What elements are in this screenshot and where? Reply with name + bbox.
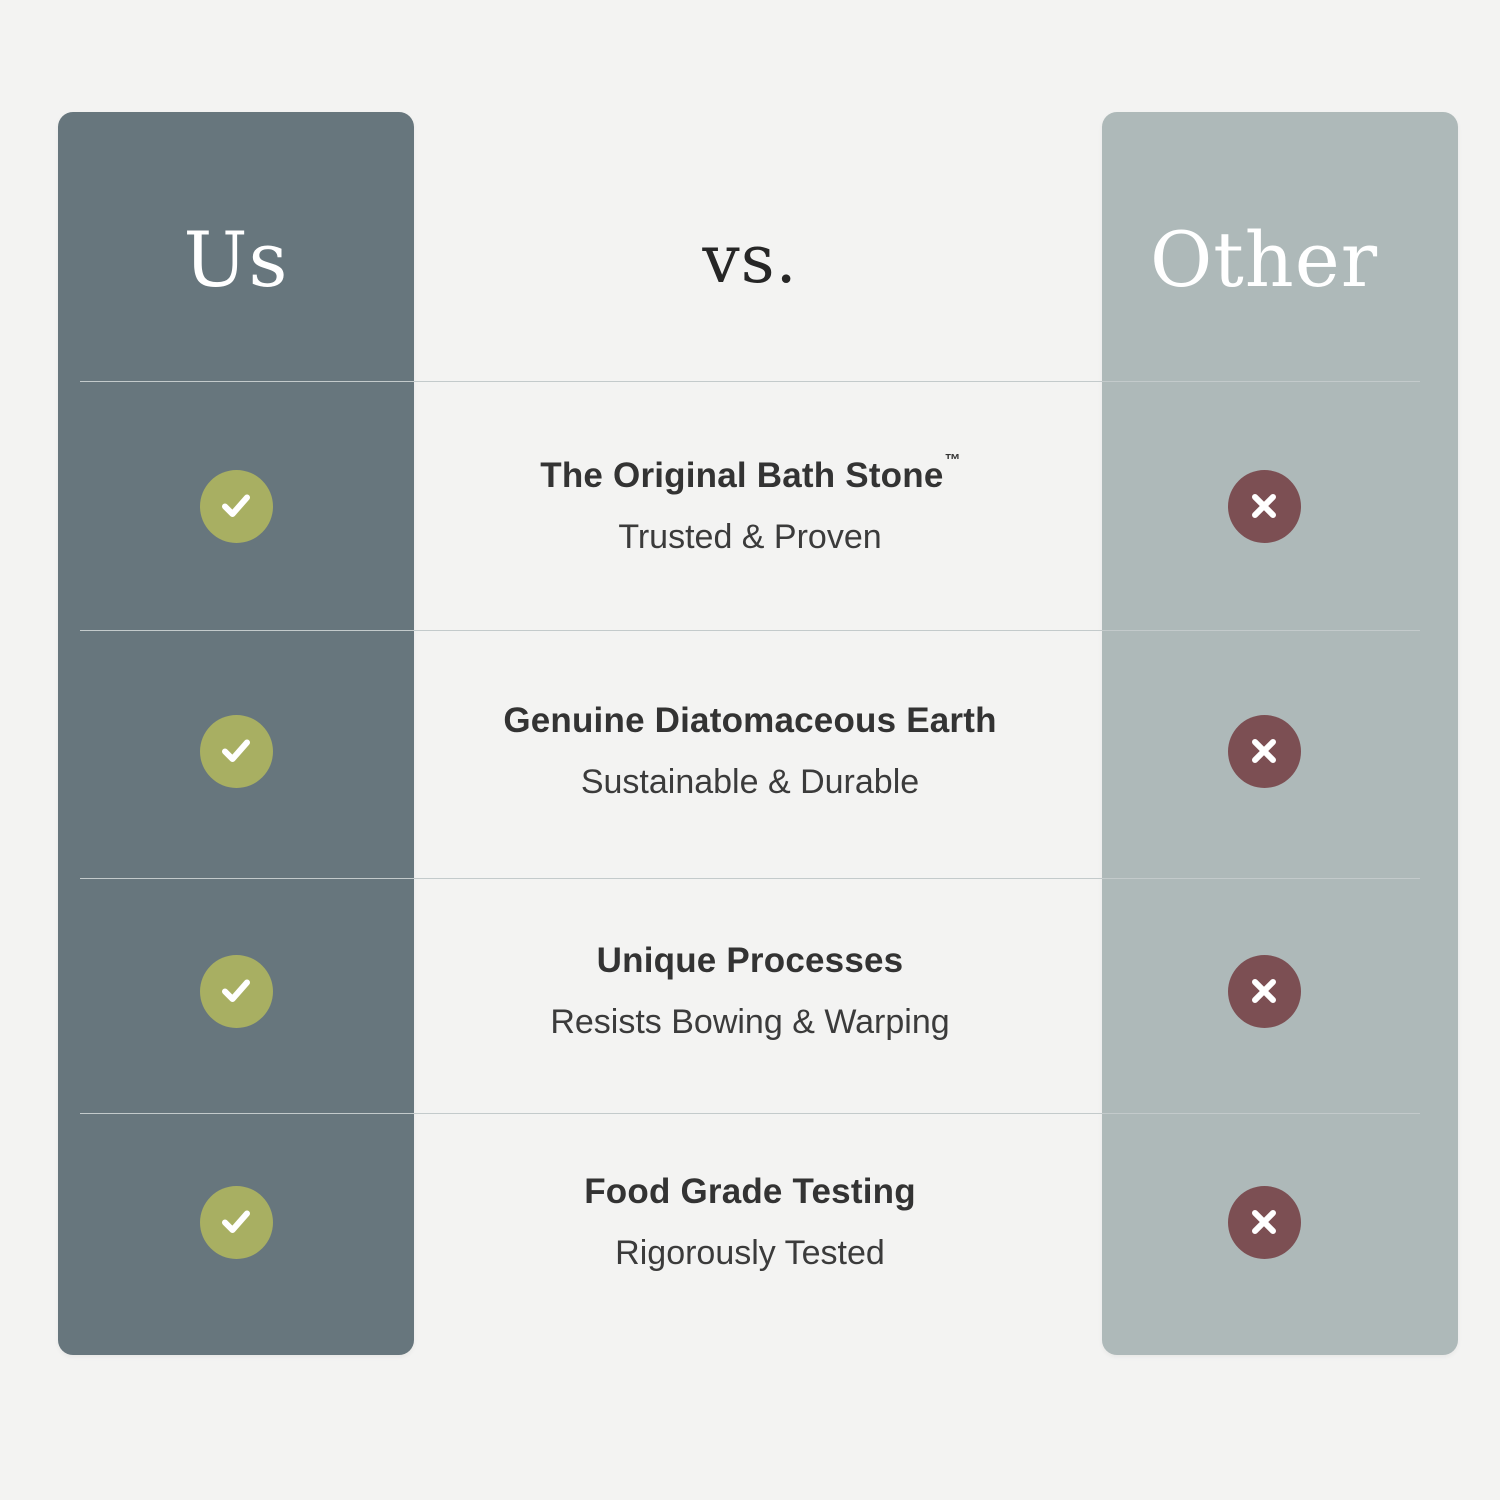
row-divider (80, 630, 1420, 631)
feature-text-cell: Genuine Diatomaceous Earth Sustainable &… (472, 700, 1028, 803)
header-label-vs: vs. (702, 227, 797, 293)
feature-subtitle: Resists Bowing & Warping (550, 1002, 949, 1043)
trademark-icon: ™ (945, 452, 961, 469)
header-cell-vs: vs. (472, 227, 1028, 293)
feature-row: Unique Processes Resists Bowing & Warpin… (0, 925, 1500, 1057)
header-cell-other: Other (1028, 222, 1500, 298)
feature-subtitle: Rigorously Tested (615, 1233, 885, 1274)
header-label-other: Other (1150, 222, 1378, 298)
comparison-table: Us vs. Other The Original Bath Stone™ Tr… (0, 0, 1500, 1500)
feature-row: Genuine Diatomaceous Earth Sustainable &… (0, 685, 1500, 817)
other-mark-cell (1028, 715, 1500, 788)
us-mark-cell (0, 470, 472, 543)
check-icon (200, 715, 273, 788)
feature-text-cell: Food Grade Testing Rigorously Tested (472, 1171, 1028, 1274)
cross-icon (1228, 955, 1301, 1028)
us-mark-cell (0, 715, 472, 788)
other-mark-cell (1028, 470, 1500, 543)
row-divider (80, 1113, 1420, 1114)
feature-row: Food Grade Testing Rigorously Tested (0, 1156, 1500, 1288)
other-mark-cell (1028, 955, 1500, 1028)
feature-subtitle: Sustainable & Durable (581, 762, 919, 803)
feature-title: Genuine Diatomaceous Earth (503, 700, 996, 742)
feature-title: Food Grade Testing (584, 1171, 916, 1213)
check-icon (200, 470, 273, 543)
feature-text-cell: The Original Bath Stone™ Trusted & Prove… (472, 455, 1028, 558)
check-icon (200, 955, 273, 1028)
feature-title-text: Unique Processes (597, 941, 904, 980)
header-label-us: Us (183, 222, 288, 298)
feature-text-cell: Unique Processes Resists Bowing & Warpin… (472, 940, 1028, 1043)
feature-title-text: The Original Bath Stone (540, 456, 943, 495)
cross-icon (1228, 1186, 1301, 1259)
row-divider (80, 381, 1420, 382)
us-mark-cell (0, 1186, 472, 1259)
us-mark-cell (0, 955, 472, 1028)
check-icon (200, 1186, 273, 1259)
feature-title-text: Genuine Diatomaceous Earth (503, 701, 996, 740)
table-header-row: Us vs. Other (0, 180, 1500, 340)
header-cell-us: Us (0, 222, 472, 298)
other-mark-cell (1028, 1186, 1500, 1259)
cross-icon (1228, 715, 1301, 788)
feature-row: The Original Bath Stone™ Trusted & Prove… (0, 440, 1500, 572)
cross-icon (1228, 470, 1301, 543)
feature-subtitle: Trusted & Proven (618, 517, 881, 558)
feature-title-text: Food Grade Testing (584, 1172, 916, 1211)
feature-title: Unique Processes (597, 940, 904, 982)
feature-title: The Original Bath Stone™ (540, 455, 959, 497)
row-divider (80, 878, 1420, 879)
